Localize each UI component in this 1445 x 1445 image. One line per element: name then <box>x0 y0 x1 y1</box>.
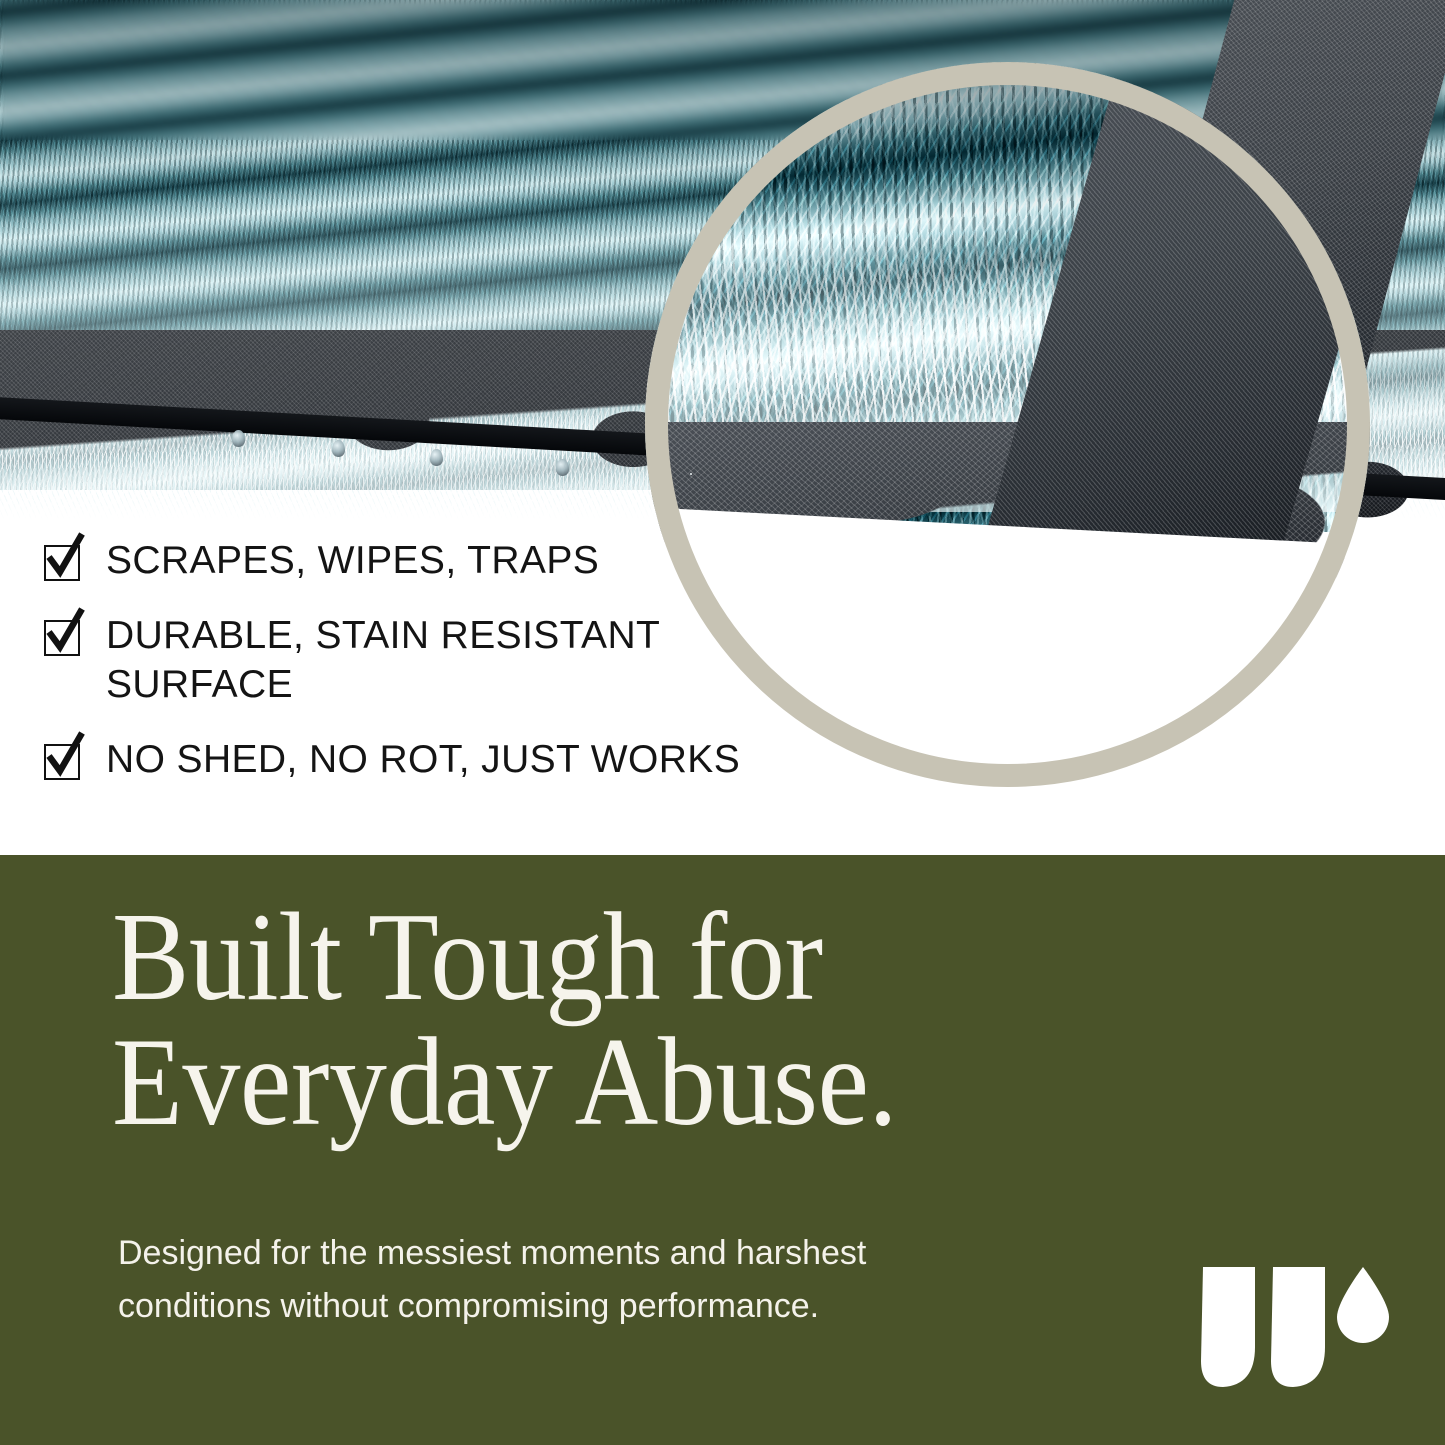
feature-label: NO SHED, NO ROT, JUST WORKS <box>106 735 740 784</box>
product-marketing-poster: SCRAPES, WIPES, TRAPS DURABLE, STAIN RES… <box>0 0 1445 1445</box>
checked-checkbox-icon <box>44 739 84 779</box>
list-item: NO SHED, NO ROT, JUST WORKS <box>44 735 804 784</box>
water-droplet <box>556 459 569 476</box>
product-photo-panel: SCRAPES, WIPES, TRAPS DURABLE, STAIN RES… <box>0 0 1445 855</box>
water-droplet <box>332 440 345 457</box>
page-title: Built Tough for Everyday Abuse. <box>112 895 1032 1145</box>
logo-stroke-left <box>1201 1267 1255 1387</box>
w-droplet-logo <box>1197 1261 1393 1393</box>
logo-stroke-right <box>1271 1267 1325 1387</box>
feature-label: DURABLE, STAIN RESISTANT SURFACE <box>106 611 804 709</box>
feature-label: SCRAPES, WIPES, TRAPS <box>106 536 599 585</box>
list-item: SCRAPES, WIPES, TRAPS <box>44 536 804 585</box>
list-item: DURABLE, STAIN RESISTANT SURFACE <box>44 611 804 709</box>
water-droplet <box>430 449 443 466</box>
water-droplet-icon <box>1337 1267 1389 1343</box>
headline-line-2: Everyday Abuse. <box>112 1020 1032 1145</box>
feature-list: SCRAPES, WIPES, TRAPS DURABLE, STAIN RES… <box>44 536 804 810</box>
promo-body-text: Designed for the messiest moments and ha… <box>118 1227 948 1333</box>
headline-line-1: Built Tough for <box>112 895 1032 1020</box>
water-droplet <box>232 430 245 447</box>
checked-checkbox-icon <box>44 615 84 655</box>
promo-panel: Built Tough for Everyday Abuse. Designed… <box>0 855 1445 1445</box>
checked-checkbox-icon <box>44 540 84 580</box>
brand-logo-svg <box>1197 1261 1393 1393</box>
